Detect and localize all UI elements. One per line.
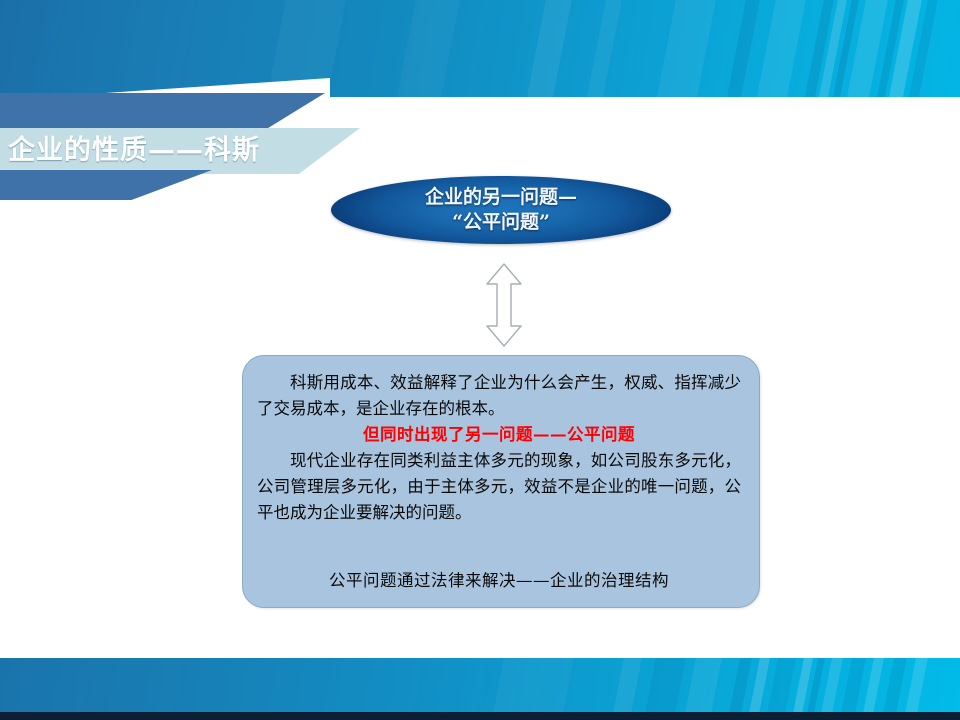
- title-chevron-upper: [0, 93, 325, 133]
- bottom-band-streaks: [0, 658, 960, 712]
- bottom-rule: [0, 712, 960, 720]
- page-title: 企业的性质——科斯: [8, 130, 260, 172]
- top-band-streaks: [0, 0, 960, 97]
- body-footer-line: 公平问题通过法律来解决——企业的治理结构: [257, 568, 741, 594]
- body-highlight-line: 但同时出现了另一问题——公平问题: [257, 422, 741, 448]
- body-paragraph-1: 科斯用成本、效益解释了企业为什么会产生，权威、指挥减少了交易成本，是企业存在的根…: [257, 370, 741, 422]
- ellipse-callout: 企业的另一问题— “公平问题”: [331, 176, 671, 244]
- top-decorative-band: [0, 0, 960, 97]
- body-textbox: 科斯用成本、效益解释了企业为什么会产生，权威、指挥减少了交易成本，是企业存在的根…: [242, 355, 760, 608]
- ellipse-line-1: 企业的另一问题—: [425, 185, 577, 210]
- ellipse-line-2: “公平问题”: [452, 210, 550, 235]
- title-chevron-lower: [0, 170, 212, 200]
- body-paragraph-2: 现代企业存在同类利益主体多元的现象，如公司股东多元化，公司管理层多元化，由于主体…: [257, 448, 741, 526]
- bottom-decorative-band: [0, 658, 960, 712]
- slide-canvas: 企业的性质——科斯 企业的另一问题— “公平问题” 科斯用成本、效益解释了企业为…: [0, 0, 960, 720]
- double-arrow-icon: [483, 262, 525, 348]
